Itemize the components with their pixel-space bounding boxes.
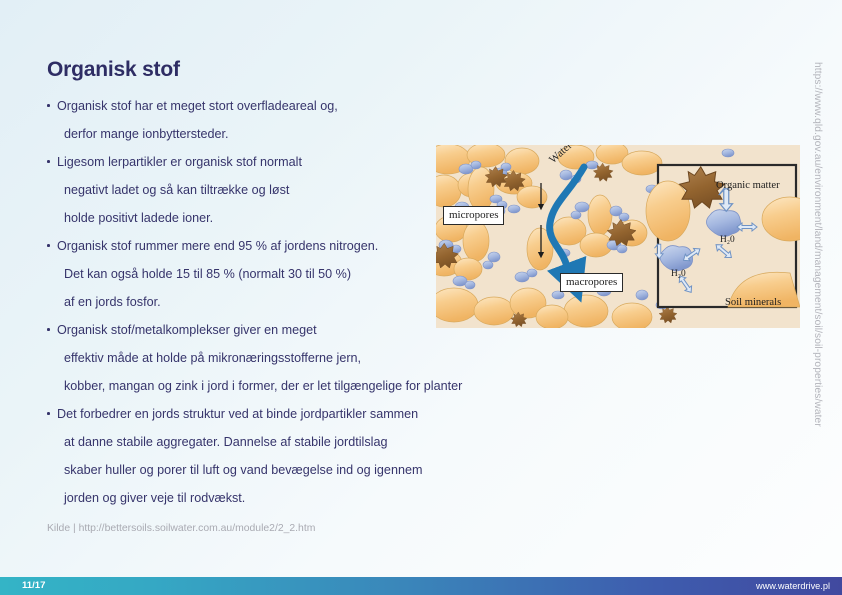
micropores-label: micropores xyxy=(443,206,504,225)
vertical-source-url: https://www.qld.gov.au/environment/land/… xyxy=(812,62,832,514)
bullet-text: skaber huller og porer til luft og vand … xyxy=(64,463,422,477)
soil-minerals-label: Soil minerals xyxy=(725,297,781,308)
page-number: 11/17 xyxy=(22,577,45,595)
bullet-text: Ligesom lerpartikler er organisk stof no… xyxy=(57,155,302,169)
macropores-label: macropores xyxy=(560,273,623,292)
footer-bar: 11/17 www.waterdrive.pl xyxy=(0,577,842,595)
bullet-line-cont: effektiv måde at holde på mikronæringsst… xyxy=(47,344,517,372)
bullet-line-cont: derfor mange ionbyttersteder. xyxy=(47,120,517,148)
bullet-item: Organisk stof/metalkomplekser giver en m… xyxy=(47,316,517,400)
bullet-text: Organisk stof rummer mere end 95 % af jo… xyxy=(57,239,378,253)
bullet-text: effektiv måde at holde på mikronæringsst… xyxy=(64,351,361,365)
bullet-line-cont: at danne stabile aggregater. Dannelse af… xyxy=(47,428,517,456)
bullet-dot-icon xyxy=(47,104,50,107)
slide-canvas: Organisk stof Organisk stof har et meget… xyxy=(0,0,842,595)
bullet-text: jorden og giver veje til rodvækst. xyxy=(64,491,245,505)
bullet-text: Det forbedrer en jords struktur ved at b… xyxy=(57,407,418,421)
bullet-text: derfor mange ionbyttersteder. xyxy=(64,127,229,141)
h2o-upper-label: H₂0 xyxy=(720,235,735,245)
soil-pores-diagram: micropores macropores Water Organic matt… xyxy=(436,145,800,328)
bullet-text: af en jords fosfor. xyxy=(64,295,161,309)
site-url: www.waterdrive.pl xyxy=(756,577,830,595)
bullet-text: Organisk stof/metalkomplekser giver en m… xyxy=(57,323,317,337)
bullet-text: kobber, mangan og zink i jord i former, … xyxy=(64,379,462,393)
bullet-text: Det kan også holde 15 til 85 % (normalt … xyxy=(64,267,351,281)
bullet-dot-icon xyxy=(47,328,50,331)
organic-matter-label: Organic matter xyxy=(716,180,780,191)
source-credit: Kilde | http://bettersoils.soilwater.com… xyxy=(47,523,315,534)
h2o-lower-label: H₂0 xyxy=(671,269,686,279)
bullet-line-cont: kobber, mangan og zink i jord i former, … xyxy=(47,372,517,400)
bullet-line-first: Organisk stof har et meget stort overfla… xyxy=(47,92,517,120)
bullet-text: negativt ladet og så kan tiltrække og lø… xyxy=(64,183,289,197)
bullet-line-first: Det forbedrer en jords struktur ved at b… xyxy=(47,400,517,428)
bullet-line-cont: skaber huller og porer til luft og vand … xyxy=(47,456,517,484)
bullet-text: Organisk stof har et meget stort overfla… xyxy=(57,99,338,113)
bullet-text: holde positivt ladede ioner. xyxy=(64,211,213,225)
bullet-dot-icon xyxy=(47,412,50,415)
page-title: Organisk stof xyxy=(47,58,180,82)
bullet-dot-icon xyxy=(47,244,50,247)
bullet-dot-icon xyxy=(47,160,50,163)
bullet-line-cont: jorden og giver veje til rodvækst. xyxy=(47,484,517,512)
bullet-text: at danne stabile aggregater. Dannelse af… xyxy=(64,435,387,449)
bullet-item: Organisk stof har et meget stort overfla… xyxy=(47,92,517,148)
bullet-item: Det forbedrer en jords struktur ved at b… xyxy=(47,400,517,512)
